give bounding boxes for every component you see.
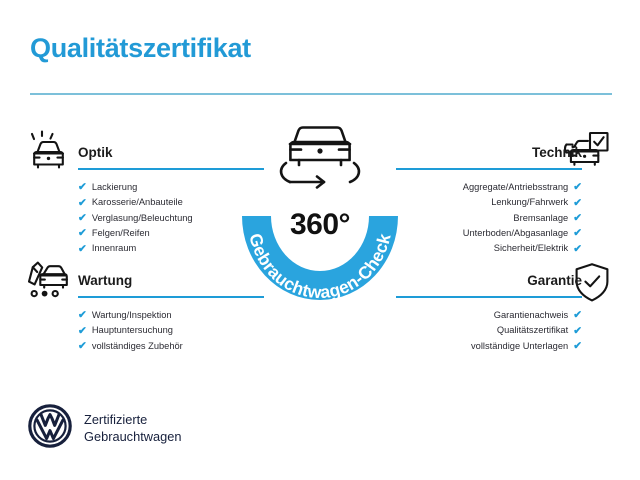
check-icon: ✔	[78, 213, 87, 224]
list-wartung: ✔Wartung/Inspektion ✔Hauptuntersuchung ✔…	[78, 308, 264, 354]
list-item-label: Verglasung/Beleuchtung	[92, 211, 193, 226]
check-icon: ✔	[573, 228, 582, 239]
list-item-label: Bremsanlage	[513, 211, 568, 226]
page-title: Qualitätszertifikat	[30, 33, 251, 64]
check-icon: ✔	[573, 310, 582, 321]
section-heading-technik: Technik	[396, 144, 582, 161]
list-item-label: Unterboden/Abgasanlage	[463, 226, 568, 241]
list-item-label: Karosserie/Anbauteile	[92, 195, 183, 210]
list-item: vollständige Unterlagen✔	[396, 339, 582, 354]
certificate-sheet: Qualitätszertifikat Optik ✔Lackierung	[0, 0, 640, 480]
list-item-label: Innenraum	[92, 241, 136, 256]
section-heading-garantie: Garantie	[396, 272, 582, 289]
list-item-label: Lackierung	[92, 180, 137, 195]
brand-text: Zertifizierte Gebrauchtwagen	[84, 412, 181, 445]
list-item: Garantienachweis✔	[396, 308, 582, 323]
list-item-label: Felgen/Reifen	[92, 226, 150, 241]
list-item: Qualitätszertifikat✔	[396, 323, 582, 338]
list-item: Unterboden/Abgasanlage✔	[396, 226, 582, 241]
check-icon: ✔	[573, 341, 582, 352]
footer-brand: Zertifizierte Gebrauchtwagen	[28, 404, 181, 453]
badge-center-label: 360°	[228, 208, 412, 242]
check-icon: ✔	[78, 341, 87, 352]
rotation-arrow-icon	[281, 163, 359, 188]
list-item: Bremsanlage✔	[396, 211, 582, 226]
section-garantie: Garantie Garantienachweis✔ Qualitätszert…	[396, 272, 582, 354]
list-item: Lenkung/Fahrwerk✔	[396, 195, 582, 210]
list-item-label: Sicherheit/Elektrik	[494, 241, 568, 256]
check-icon: ✔	[78, 198, 87, 209]
section-rule-garantie	[396, 296, 582, 298]
check-icon: ✔	[78, 326, 87, 337]
list-item-label: Hauptuntersuchung	[92, 323, 173, 338]
list-item: ✔vollständiges Zubehör	[78, 339, 264, 354]
list-item-label: Qualitätszertifikat	[497, 323, 568, 338]
list-item-label: Aggregate/Antriebsstrang	[463, 180, 568, 195]
list-item-label: Lenkung/Fahrwerk	[491, 195, 568, 210]
list-item-label: Wartung/Inspektion	[92, 308, 172, 323]
check-icon: ✔	[78, 310, 87, 321]
list-garantie: Garantienachweis✔ Qualitätszertifikat✔ v…	[396, 308, 582, 354]
service-book-pen-icon	[25, 261, 73, 310]
check-icon: ✔	[573, 326, 582, 337]
check-icon: ✔	[78, 244, 87, 255]
list-item-label: vollständiges Zubehör	[92, 339, 183, 354]
check-icon: ✔	[573, 198, 582, 209]
car-shine-icon	[25, 130, 73, 179]
check-icon: ✔	[78, 228, 87, 239]
title-divider	[30, 93, 612, 95]
gebrauchtwagen-check-badge: Gebrauchtwagen-Check 360°	[228, 112, 412, 310]
list-item-label: vollständige Unterlagen	[471, 339, 568, 354]
list-item: Aggregate/Antriebsstrang✔	[396, 180, 582, 195]
list-item: Sicherheit/Elektrik✔	[396, 241, 582, 256]
check-icon: ✔	[573, 213, 582, 224]
list-technik: Aggregate/Antriebsstrang✔ Lenkung/Fahrwe…	[396, 180, 582, 256]
list-item: ✔Wartung/Inspektion	[78, 308, 264, 323]
vw-logo	[28, 404, 72, 453]
list-item-label: Garantienachweis	[494, 308, 568, 323]
list-item: ✔Hauptuntersuchung	[78, 323, 264, 338]
section-rule-technik	[396, 168, 582, 170]
check-icon: ✔	[78, 182, 87, 193]
section-technik: Technik Aggregate/Antriebsstrang✔ Lenkun…	[396, 144, 582, 256]
check-icon: ✔	[573, 244, 582, 255]
car-rotate-icon	[290, 128, 350, 166]
check-icon: ✔	[573, 182, 582, 193]
